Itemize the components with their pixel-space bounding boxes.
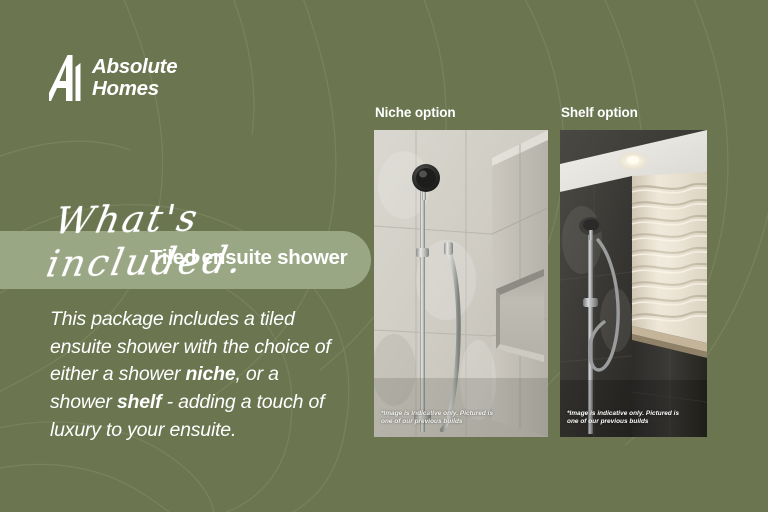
photo-niche-illustration	[374, 130, 548, 437]
description-bold-shelf: shelf	[117, 391, 162, 413]
absolute-homes-a-monogram-icon	[49, 55, 83, 101]
photo-caption-niche: *Image is indicative only. Pictured is o…	[381, 410, 506, 427]
photo-caption-shelf: *Image is indicative only. Pictured is o…	[567, 410, 692, 427]
package-description: This package includes a tiled ensuite sh…	[50, 306, 340, 444]
brand-logo: Absolute Homes	[49, 55, 177, 101]
script-heading: What's included.	[43, 193, 391, 286]
package-title: Tiled ensuite shower	[150, 246, 347, 270]
description-bold-niche: niche	[186, 363, 236, 385]
photo-shelf-illustration	[560, 130, 707, 437]
photo-label-niche: Niche option	[375, 105, 456, 120]
photo-shelf-option: *Image is indicative only. Pictured is o…	[560, 130, 707, 437]
brand-wordmark: Absolute Homes	[92, 56, 177, 99]
photo-niche-option: *Image is indicative only. Pictured is o…	[374, 130, 548, 437]
slide-canvas: Absolute Homes What's included. Tiled en…	[0, 0, 768, 512]
photo-label-shelf: Shelf option	[561, 105, 638, 120]
